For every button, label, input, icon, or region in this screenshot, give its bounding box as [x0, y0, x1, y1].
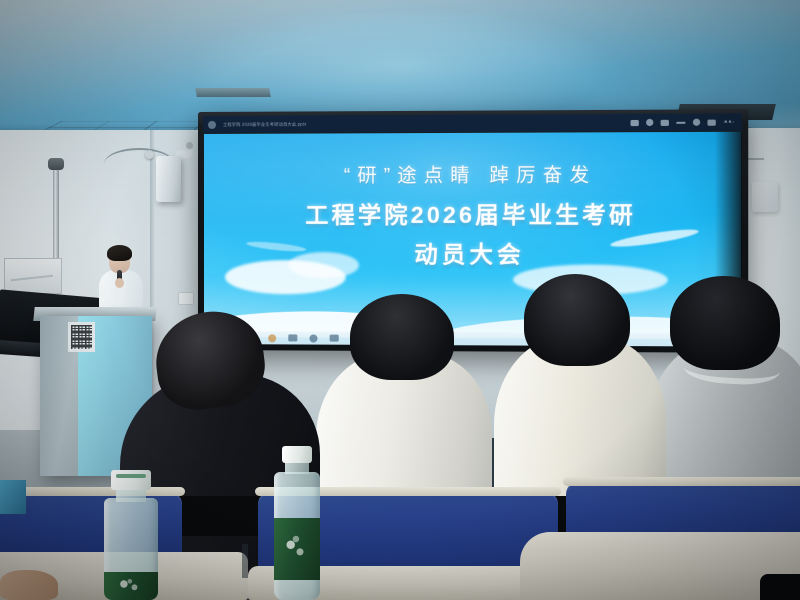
bottle-label: [274, 518, 320, 580]
wall-frame: [4, 258, 62, 294]
cable-anchor-icon: [145, 150, 154, 159]
water-bottle[interactable]: [104, 460, 158, 600]
shape-icon[interactable]: [707, 119, 715, 125]
open-file-label: 工程学院 2026届毕业生考研动员大会.pptx: [223, 121, 306, 127]
pipe-cap-icon: [48, 158, 64, 170]
display-toolbar[interactable]: 工程学院 2026届毕业生考研动员大会.pptx: [203, 113, 742, 133]
more-icon[interactable]: [723, 120, 733, 124]
desk-object-shadow: [760, 574, 800, 600]
presenter-hand: [115, 278, 124, 288]
bottle-cap: [282, 446, 312, 463]
slide-text-block: “研”途点睛 踔厉奋发 工程学院2026届毕业生考研 动员大会: [204, 160, 741, 271]
fixed-writing-desk: [520, 532, 800, 600]
slide-title-line-2: 动员大会: [204, 235, 741, 270]
bottle-label: [104, 572, 158, 600]
hand: [0, 570, 58, 600]
ceiling-sensor-icon: [186, 142, 193, 149]
audience-hair: [670, 276, 780, 370]
audience-hair: [350, 294, 454, 380]
slide-title-line-1: 工程学院2026届毕业生考研: [204, 195, 741, 230]
highlighter-icon[interactable]: [646, 119, 653, 126]
pen-icon[interactable]: [631, 119, 639, 125]
wall-speaker-icon: [156, 156, 181, 202]
lecture-hall-photo: 工程学院 2026届毕业生考研动员大会.pptx “研”途点睛 踔厉奋发: [0, 0, 800, 600]
qr-code-icon: [68, 322, 95, 352]
wall-socket-icon: [178, 292, 194, 305]
bottle-cap: [111, 470, 151, 490]
bottle-cap-ring: [116, 474, 146, 478]
eraser-icon[interactable]: [661, 119, 669, 125]
ceiling-vent-secondary: [195, 88, 271, 97]
select-icon[interactable]: [676, 121, 685, 123]
audience-hair: [524, 274, 630, 366]
app-menu-icon[interactable]: [208, 120, 216, 128]
desk-seam: [242, 544, 248, 578]
display-tool-group[interactable]: [631, 118, 742, 126]
slide-headline: “研”途点睛 踔厉奋发: [204, 160, 741, 189]
foreground-blue-object: [0, 480, 26, 514]
presenter-hair: [107, 245, 132, 261]
water-bottle[interactable]: [274, 444, 320, 600]
right-wall-plate: [752, 182, 778, 212]
undo-icon[interactable]: [693, 119, 700, 126]
